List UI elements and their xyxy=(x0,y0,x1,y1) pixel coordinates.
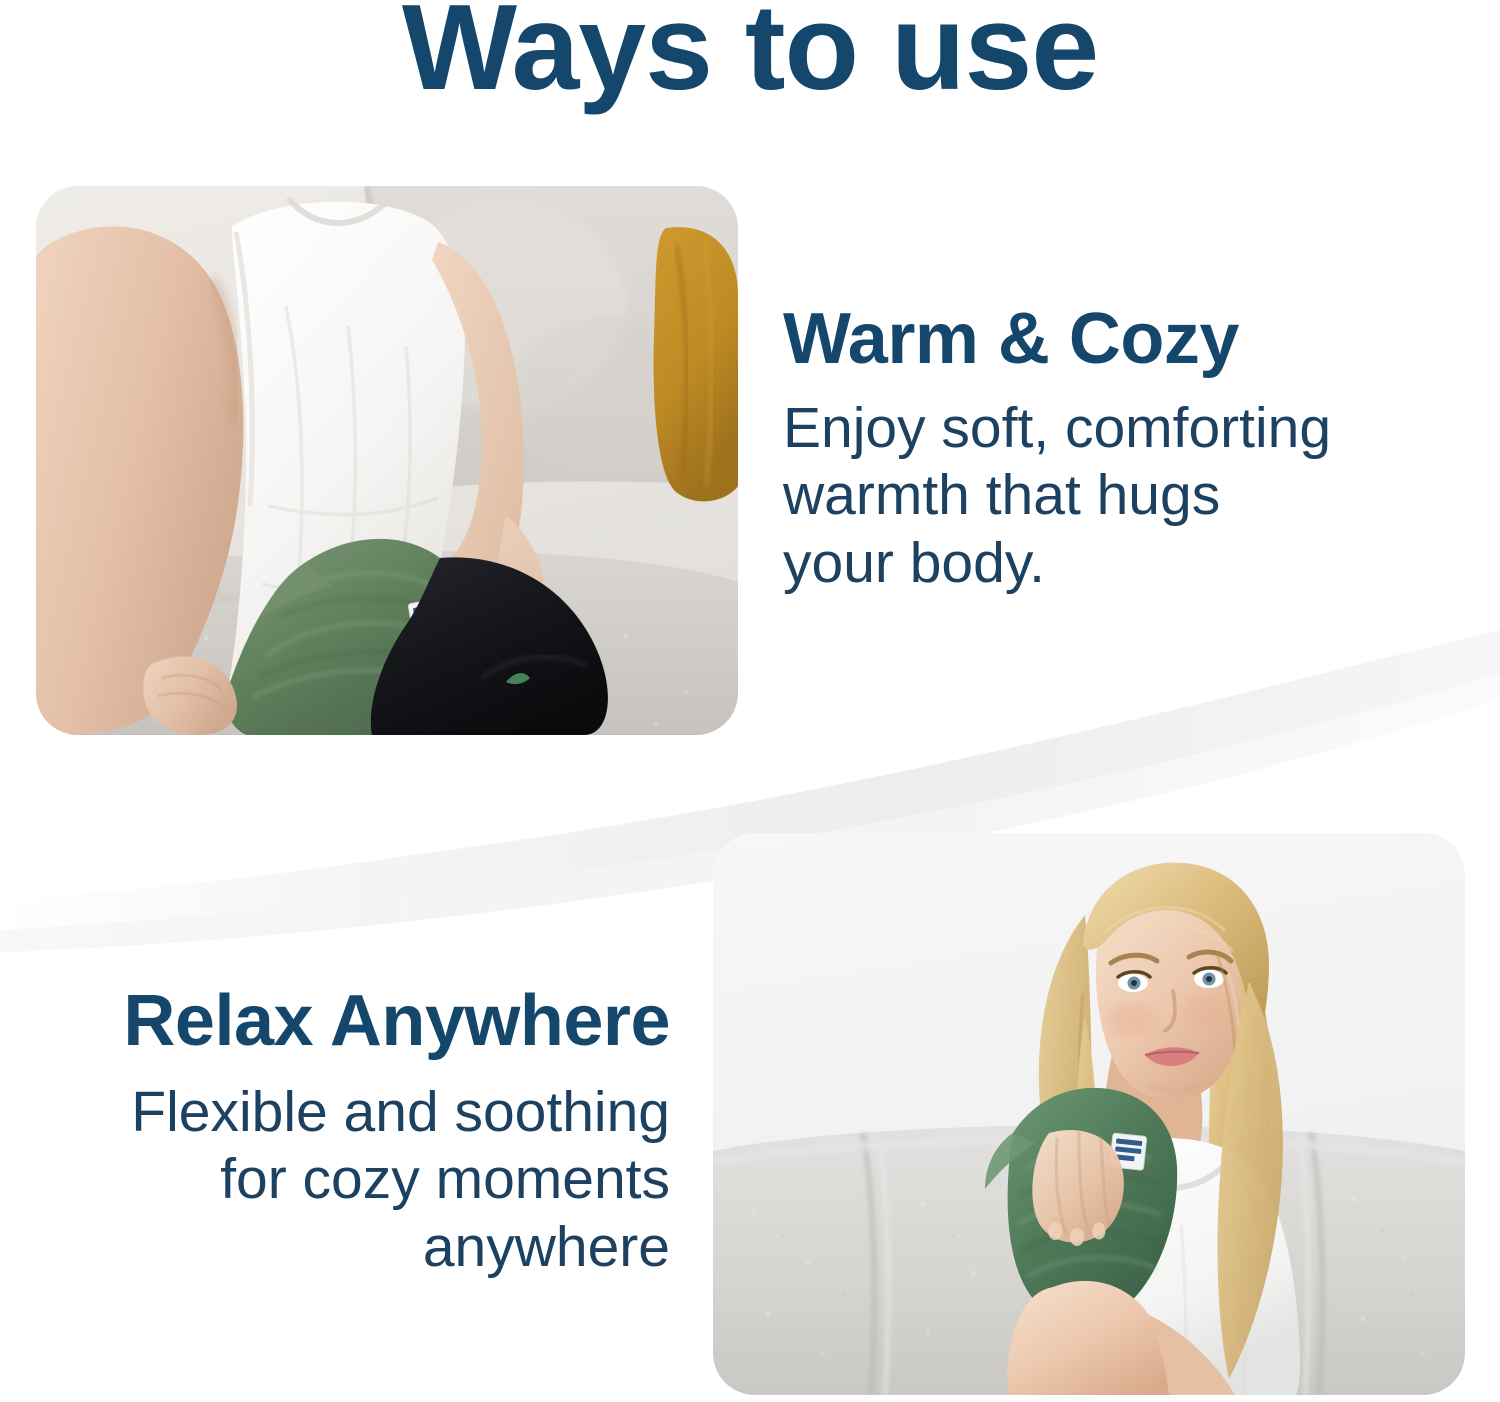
feature-body-relax-anywhere: Flexible and soothing for cozy moments a… xyxy=(40,1079,670,1281)
photo-woman-holding-heat-pad-on-shoulder xyxy=(713,833,1465,1395)
feature-body-line: your body. xyxy=(783,530,1331,597)
feature-text-warm-cozy: Warm & Cozy Enjoy soft, comforting warmt… xyxy=(783,303,1331,597)
feature-heading-relax-anywhere: Relax Anywhere xyxy=(40,985,670,1057)
feature-body-line: for cozy moments xyxy=(40,1146,670,1213)
feature-text-relax-anywhere: Relax Anywhere Flexible and soothing for… xyxy=(40,985,670,1281)
feature-body-warm-cozy: Enjoy soft, comforting warmth that hugs … xyxy=(783,395,1331,597)
feature-body-line: Enjoy soft, comforting xyxy=(783,395,1331,462)
feature-body-line: warmth that hugs xyxy=(783,462,1331,529)
page-title: Ways to use xyxy=(0,0,1500,108)
photo-woman-on-couch-with-heat-pad xyxy=(36,186,738,735)
feature-heading-warm-cozy: Warm & Cozy xyxy=(783,303,1331,375)
feature-body-line: anywhere xyxy=(40,1214,670,1281)
feature-body-line: Flexible and soothing xyxy=(40,1079,670,1146)
